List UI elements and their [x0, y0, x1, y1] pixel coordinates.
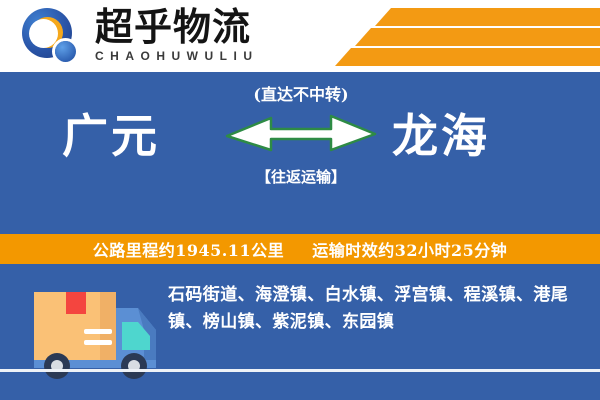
route-section: 广元 (直达不中转) 【往返运输】 龙海: [0, 72, 600, 232]
destination-city: 龙海: [392, 108, 490, 164]
duration-text: 运输时效约32小时25分钟: [312, 241, 507, 260]
direct-service-note: (直达不中转): [225, 84, 377, 106]
info-bar-content: 公路里程约1945.11公里 运输时效约32小时25分钟: [93, 237, 508, 261]
brand-name-en: CHAOHUWULIU: [95, 49, 259, 63]
coverage-section: 石码街道、海澄镇、白水镇、浮宫镇、程溪镇、港尾镇、榜山镇、紫泥镇、东园镇: [0, 264, 600, 400]
bidirectional-arrow-icon: [225, 112, 377, 154]
roundtrip-note: 【往返运输】: [225, 167, 377, 187]
road-line: [0, 369, 600, 372]
brand-text: 超乎物流 CHAOHUWULIU: [95, 6, 259, 63]
route-middle: (直达不中转) 【往返运输】: [225, 84, 377, 214]
logistics-banner: 超乎物流 CHAOHUWULIU 广元 (直达不中转) 【往返运输】 龙海 公路…: [0, 0, 600, 400]
origin-city: 广元: [62, 108, 160, 164]
logo-small-dot: [55, 41, 76, 62]
banner-header: 超乎物流 CHAOHUWULIU: [0, 0, 600, 72]
brand-name-cn: 超乎物流: [95, 6, 259, 48]
distance-text: 公路里程约1945.11公里: [93, 241, 284, 260]
coverage-areas-text: 石码街道、海澄镇、白水镇、浮宫镇、程溪镇、港尾镇、榜山镇、紫泥镇、东园镇: [168, 282, 574, 336]
logo-crescent-cutout: [29, 19, 58, 48]
info-bar: 公路里程约1945.11公里 运输时效约32小时25分钟: [0, 234, 600, 264]
speed-stripes-icon: [335, 6, 600, 68]
circle-crescent-logo-icon: [22, 8, 82, 64]
